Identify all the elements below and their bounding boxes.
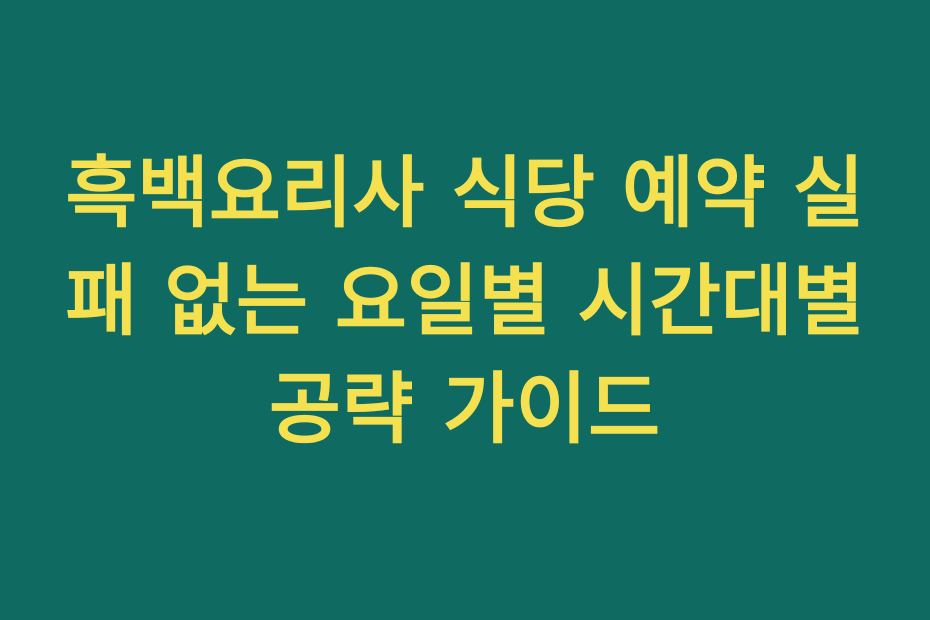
thumbnail-card: 흑백요리사 식당 예약 실 패 없는 요일별 시간대별 공략 가이드 — [0, 0, 930, 620]
title-line-2: 패 없는 요일별 시간대별 — [55, 248, 875, 356]
title-text-block: 흑백요리사 식당 예약 실 패 없는 요일별 시간대별 공략 가이드 — [55, 140, 875, 464]
title-line-3: 공략 가이드 — [55, 356, 875, 464]
title-line-1: 흑백요리사 식당 예약 실 — [55, 140, 875, 248]
